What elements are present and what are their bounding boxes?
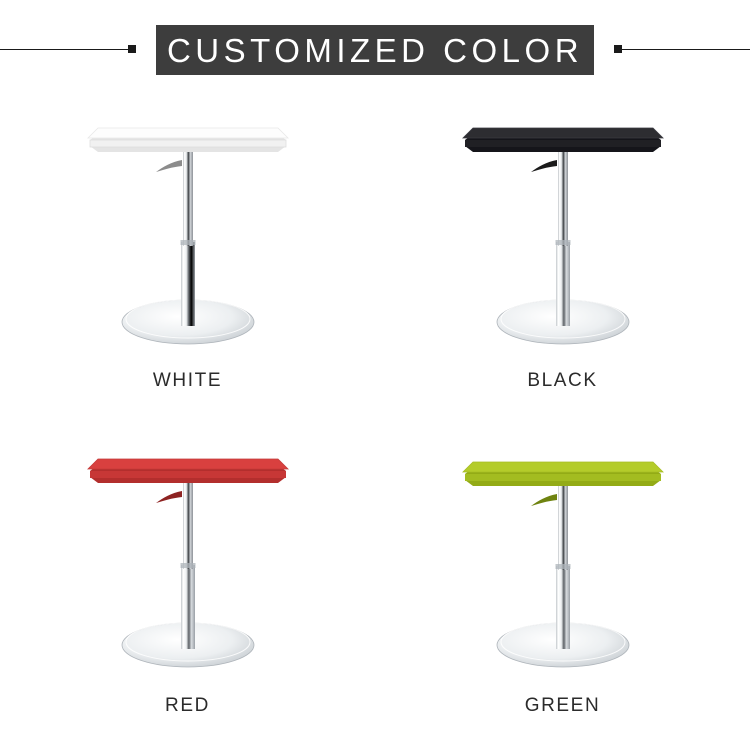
product-label-red: RED — [0, 695, 375, 717]
header-title-box: CUSTOMIZED COLOR — [156, 25, 594, 75]
table-illustration-red — [68, 445, 308, 677]
page-header-banner: CUSTOMIZED COLOR — [0, 0, 750, 100]
table-illustration-white — [68, 114, 308, 354]
product-label-green: GREEN — [375, 695, 750, 717]
product-cell-red[interactable]: RED — [0, 425, 375, 750]
page-title: CUSTOMIZED COLOR — [167, 34, 583, 67]
product-color-options-page: CUSTOMIZED COLOR — [0, 0, 750, 750]
product-cell-green[interactable]: GREEN — [375, 425, 750, 750]
product-image-green — [375, 425, 750, 687]
product-label-white: WHITE — [0, 370, 375, 392]
header-rule-right-endcap — [614, 45, 622, 53]
product-image-white — [0, 100, 375, 362]
product-image-red — [0, 425, 375, 687]
product-label-black: BLACK — [375, 370, 750, 392]
table-illustration-green — [443, 448, 683, 680]
product-color-grid: WHITE — [0, 100, 750, 750]
product-cell-black[interactable]: BLACK — [375, 100, 750, 425]
header-rule-right — [622, 49, 750, 50]
header-rule-left-endcap — [128, 45, 136, 53]
header-rule-left — [0, 49, 128, 50]
product-image-black — [375, 100, 750, 362]
table-illustration-black — [443, 114, 683, 354]
product-cell-white[interactable]: WHITE — [0, 100, 375, 425]
